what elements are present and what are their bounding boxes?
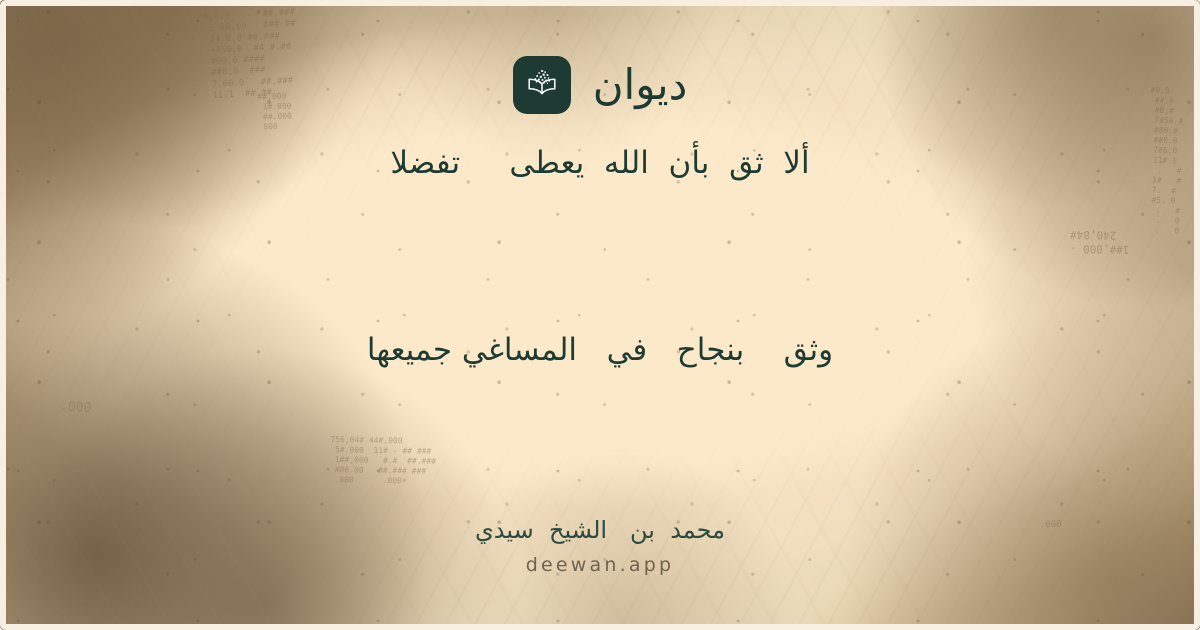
open-book-sparkles-icon [522, 65, 562, 105]
poem-author: محمد بن الشيخ سيدي [475, 516, 725, 544]
app-name: ديوان [593, 64, 688, 106]
poetry-share-card: 4,0,0 - ##,### ~ 00,00 ###-## 74.0,0 ##.… [0, 0, 1200, 630]
verse-line: ألا ثق بأن الله يعطى تفضلا [390, 140, 809, 187]
card-content: ديوان ألا ثق بأن الله يعطى تفضلا وثق بنج… [0, 0, 1200, 630]
brand-header: ديوان [513, 56, 688, 114]
card-footer: محمد بن الشيخ سيدي deewan.app [0, 516, 1200, 576]
app-logo [513, 56, 571, 114]
site-url: deewan.app [526, 554, 674, 576]
verse-line: وثق بنجاح في المساغي جميعها [367, 327, 833, 374]
poem-verses: ألا ثق بأن الله يعطى تفضلا وثق بنجاح في … [0, 114, 1200, 373]
